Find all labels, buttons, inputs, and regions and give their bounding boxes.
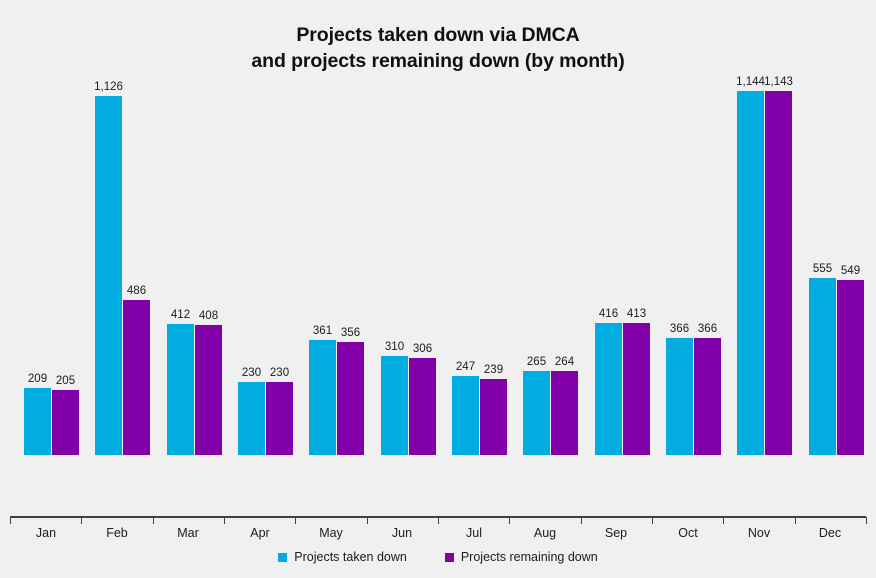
x-axis-tick [652,517,653,524]
x-axis-label-jan: Jan [10,526,82,540]
bar-taken-feb[interactable] [95,96,122,455]
bar-taken-aug[interactable] [523,371,550,455]
x-axis-label-may: May [295,526,367,540]
bar-remain-mar[interactable] [195,325,222,455]
bar-value-label: 239 [474,364,514,376]
bar-taken-dec[interactable] [809,278,836,455]
x-axis-label-oct: Oct [652,526,724,540]
bar-value-label: 205 [46,375,86,387]
x-axis-tick [866,517,867,524]
bar-remain-may[interactable] [337,342,364,455]
bar-taken-may[interactable] [309,340,336,455]
bar-taken-jan[interactable] [24,388,51,455]
x-axis-tick [367,517,368,524]
legend-item-remaining-down[interactable]: Projects remaining down [445,550,598,564]
bar-group: 1,1441,143 [731,15,793,455]
bar-taken-sep[interactable] [595,323,622,455]
bar-group: 416413 [589,15,651,455]
x-axis-tick [10,517,11,524]
x-axis-tick [153,517,154,524]
bar-remain-jul[interactable] [480,379,507,455]
square-marker-icon [278,553,287,562]
bar-remain-sep[interactable] [623,323,650,455]
bar-group: 230230 [232,15,294,455]
legend-item-taken-down[interactable]: Projects taken down [278,550,407,564]
x-axis-label-feb: Feb [81,526,153,540]
x-axis-tick [81,517,82,524]
bar-group: 412408 [161,15,223,455]
plot-area: 209205Jan1,126486Feb412408Mar230230Apr36… [0,0,876,517]
bar-remain-aug[interactable] [551,371,578,455]
x-axis-label-dec: Dec [794,526,866,540]
bar-group: 265264 [517,15,579,455]
bar-value-label: 230 [260,367,300,379]
x-axis-label-jun: Jun [366,526,438,540]
x-axis-tick [224,517,225,524]
bar-taken-mar[interactable] [167,324,194,455]
bar-group: 247239 [446,15,508,455]
bar-value-label: 306 [403,343,443,355]
bar-taken-apr[interactable] [238,382,265,455]
bar-remain-dec[interactable] [837,280,864,455]
x-axis-label-nov: Nov [723,526,795,540]
x-axis-tick [795,517,796,524]
x-axis-tick [438,517,439,524]
bar-value-label: 356 [331,327,371,339]
bar-remain-feb[interactable] [123,300,150,455]
bar-group: 555549 [803,15,865,455]
bar-remain-nov[interactable] [765,91,792,455]
bar-group: 209205 [18,15,80,455]
x-axis-label-apr: Apr [224,526,296,540]
bar-value-label: 549 [831,265,871,277]
bar-group: 361356 [303,15,365,455]
x-axis-label-sep: Sep [580,526,652,540]
dmca-bar-chart: Projects taken down via DMCA and project… [0,0,876,578]
x-axis-tick [295,517,296,524]
x-axis-tick [581,517,582,524]
bar-remain-apr[interactable] [266,382,293,455]
bar-remain-jun[interactable] [409,358,436,455]
bar-value-label: 1,143 [759,76,799,88]
legend-label: Projects taken down [294,550,407,564]
bar-taken-jul[interactable] [452,376,479,455]
bar-value-label: 264 [545,356,585,368]
bar-group: 1,126486 [89,15,151,455]
bar-value-label: 1,126 [89,81,129,93]
bar-group: 310306 [375,15,437,455]
x-axis-tick [723,517,724,524]
x-axis-label-mar: Mar [152,526,224,540]
bar-taken-oct[interactable] [666,338,693,455]
bar-value-label: 408 [189,310,229,322]
legend-label: Projects remaining down [461,550,598,564]
bar-taken-nov[interactable] [737,91,764,455]
bar-value-label: 366 [688,323,728,335]
bar-value-label: 413 [617,308,657,320]
bar-remain-oct[interactable] [694,338,721,455]
x-axis-label-jul: Jul [438,526,510,540]
x-axis-tick [509,517,510,524]
bar-value-label: 486 [117,285,157,297]
chart-legend: Projects taken downProjects remaining do… [0,550,876,564]
x-axis-label-aug: Aug [509,526,581,540]
bar-taken-jun[interactable] [381,356,408,455]
square-marker-icon [445,553,454,562]
bar-remain-jan[interactable] [52,390,79,455]
bar-group: 366366 [660,15,722,455]
